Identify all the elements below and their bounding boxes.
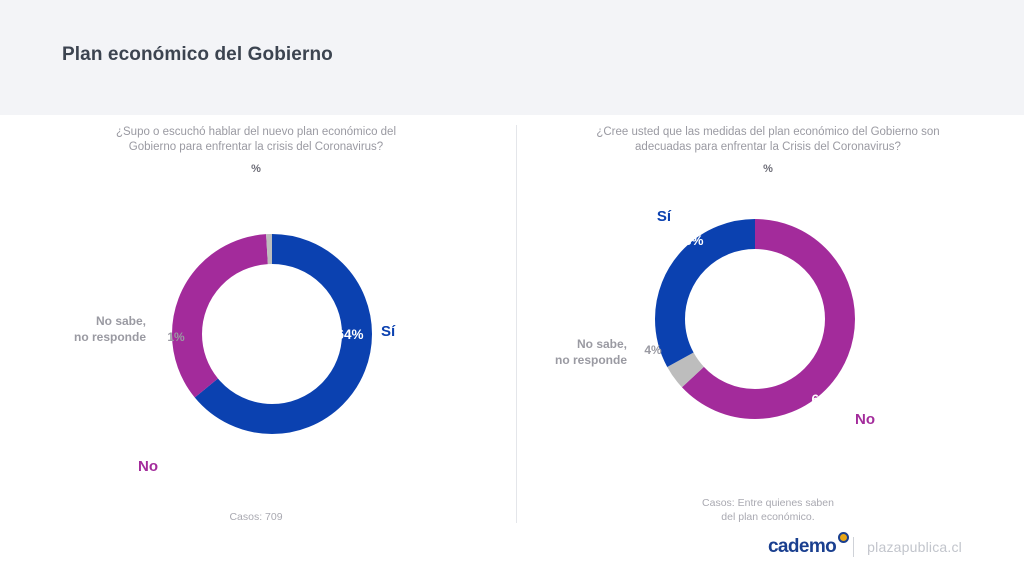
donut-label-si: Sí — [381, 323, 396, 340]
donut-value-no: 63% — [811, 392, 838, 407]
donut-label-si: Sí — [657, 208, 672, 225]
footnote-line-1: Casos: 709 — [229, 511, 282, 523]
footnote-line-2: del plan económico. — [721, 511, 814, 523]
question-line-2: Gobierno para enfrentar la crisis del Co… — [129, 141, 383, 153]
chart-question-awareness: ¿Supo o escuchó hablar del nuevo plan ec… — [56, 125, 456, 155]
donut-value-si: 33% — [676, 233, 703, 248]
donut-label-no: No — [855, 411, 875, 428]
donut-label-no: No — [138, 458, 158, 475]
donut-label-ns-line2: no responde — [555, 353, 627, 367]
donut-svg-awareness: 64% 35% 1% Sí No No sabe, no responde — [0, 189, 512, 479]
footnote-line-1: Casos: Entre quienes saben — [702, 497, 834, 509]
cademo-logo: cademo — [768, 536, 840, 558]
donut-value-no: 35% — [176, 458, 203, 473]
chart-question-adequacy: ¿Cree usted que las medidas del plan eco… — [568, 125, 968, 155]
cademo-wordmark: cademo — [768, 536, 836, 557]
donut-chart-awareness: 64% 35% 1% Sí No No sabe, no responde — [0, 189, 512, 479]
brand-lockup: cademo plazapublica.cl — [768, 536, 962, 558]
donut-label-ns-line1: No sabe, — [96, 314, 146, 328]
chart-panel-awareness: ¿Supo o escuchó hablar del nuevo plan ec… — [0, 115, 512, 573]
chart-footnote-awareness: Casos: 709 — [56, 510, 456, 524]
question-line-1: ¿Cree usted que las medidas del plan eco… — [596, 126, 939, 138]
content-area: ¿Supo o escuchó hablar del nuevo plan ec… — [0, 115, 1024, 573]
donut-label-ns-line2: no responde — [74, 330, 146, 344]
chart-unit-awareness: % — [56, 163, 456, 175]
question-line-2: adecuadas para enfrentar la Crisis del C… — [635, 141, 901, 153]
chart-footnote-adequacy: Casos: Entre quienes saben del plan econ… — [568, 496, 968, 524]
chart-unit-adequacy: % — [568, 163, 968, 175]
donut-value-ns: 4% — [644, 343, 662, 357]
donut-chart-adequacy: 33% 63% 4% Sí No No sabe, no responde — [512, 189, 1024, 479]
donut-value-ns: 1% — [167, 330, 185, 344]
brand-separator — [853, 537, 854, 557]
cademo-ring-icon — [838, 532, 849, 543]
donut-label-ns-line1: No sabe, — [577, 337, 627, 351]
chart-panel-adequacy: ¿Cree usted que las medidas del plan eco… — [512, 115, 1024, 573]
plazapublica-wordmark: plazapublica.cl — [867, 539, 962, 555]
page-title: Plan económico del Gobierno — [62, 44, 333, 66]
footer: cademo plazapublica.cl — [0, 530, 1024, 573]
donut-svg-adequacy: 33% 63% 4% Sí No No sabe, no responde — [512, 189, 1024, 479]
donut-value-si: 64% — [336, 327, 363, 342]
question-line-1: ¿Supo o escuchó hablar del nuevo plan ec… — [116, 126, 396, 138]
